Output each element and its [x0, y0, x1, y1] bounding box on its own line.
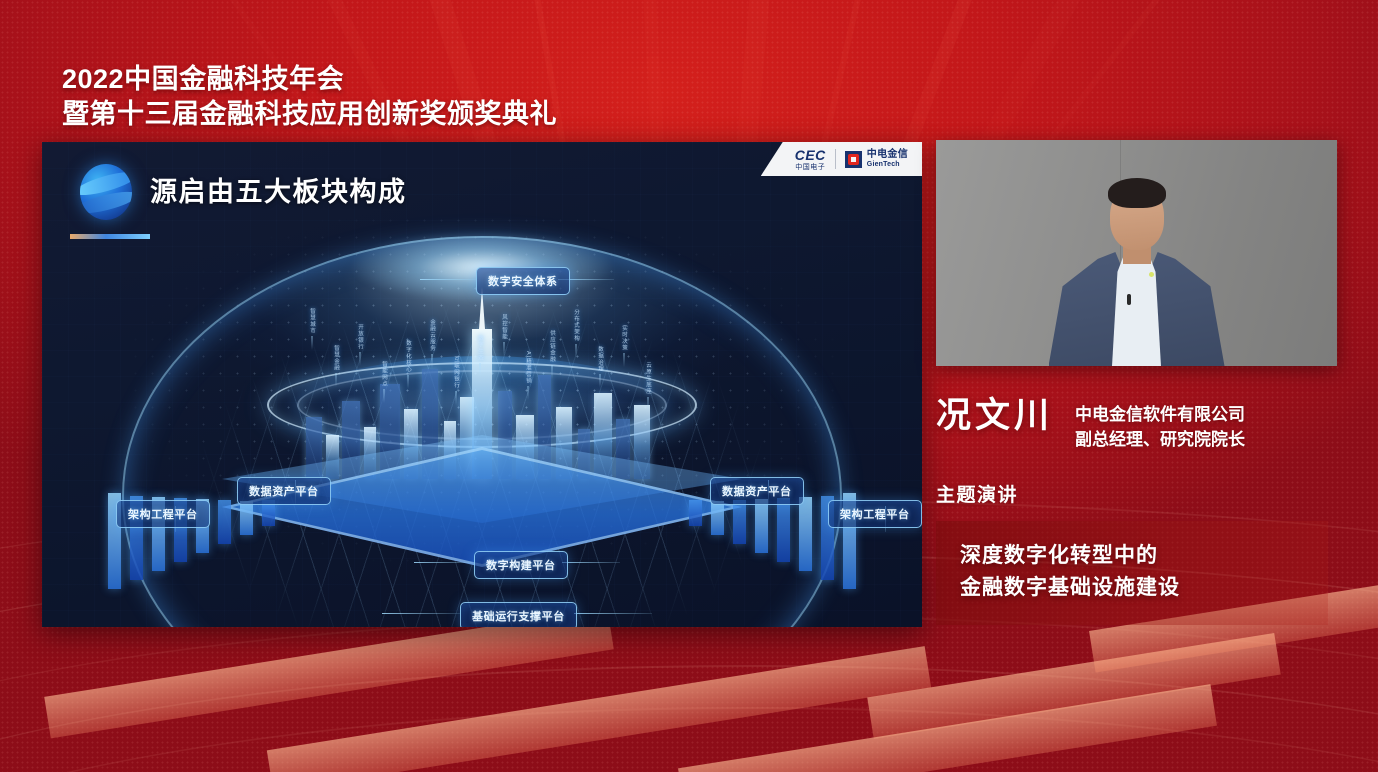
node-data-asset-left[interactable]: 数据资产平台: [237, 477, 331, 505]
city-label: 数字化核心: [404, 340, 412, 373]
gientech-en-name: GienTech: [867, 161, 908, 168]
event-title: 2022中国金融科技年会 暨第十三届金融科技应用创新奖颁奖典礼: [62, 27, 557, 167]
speaker-identity-row: 况文川 中电金信软件有限公司 副总经理、研究院院长: [936, 398, 1348, 452]
node-architecture-left[interactable]: 架构工程平台: [116, 500, 210, 528]
cec-abbr: CEC: [795, 148, 826, 162]
city-label: 数字生态: [476, 335, 484, 361]
speaker-organization: 中电金信软件有限公司 副总经理、研究院院长: [1075, 398, 1245, 452]
speech-topic-box: 深度数字化转型中的 金融数字基础设施建设: [936, 521, 1328, 625]
speaker-video-feed[interactable]: [936, 140, 1337, 366]
speech-topic-line1: 深度数字化转型中的: [960, 540, 1304, 572]
city-label: 互联网银行: [452, 356, 460, 389]
lead-runtime-right: [574, 613, 652, 614]
cec-cn-name: 中国电子: [795, 164, 825, 171]
presentation-slide[interactable]: 源启由五大板块构成 CEC 中国电子 中电金信 GienTech: [42, 142, 922, 627]
speaker-info-panel: 况文川 中电金信软件有限公司 副总经理、研究院院长 主题演讲 深度数字化转型中的…: [936, 398, 1348, 625]
speaker-name: 况文川: [936, 398, 1053, 435]
node-architecture-right[interactable]: 架构工程平台: [828, 500, 922, 528]
city-label: 金融云服务: [428, 319, 436, 352]
city-label: 开放银行: [356, 324, 364, 350]
gientech-logo: 中电金信 GienTech: [845, 150, 908, 168]
platform-bar: [799, 497, 812, 571]
city-label: 风控智能: [500, 314, 508, 340]
lead-runtime-left: [382, 613, 460, 614]
cec-logo: CEC 中国电子: [795, 148, 826, 171]
slide-title: 源启由五大板块构成: [150, 170, 407, 209]
platform-bar: [733, 500, 746, 544]
logo-divider: [835, 149, 836, 169]
platform-bar: [689, 500, 702, 526]
platform-bar: [755, 499, 768, 553]
speech-topic-line2: 金融数字基础设施建设: [960, 572, 1304, 604]
city-label: 实时决策: [620, 325, 628, 351]
node-data-asset-right[interactable]: 数据资产平台: [710, 477, 804, 505]
city-label: 智能网点: [380, 361, 388, 387]
city-label: 数据治理: [596, 346, 604, 372]
speaker-lapel-pin: [1149, 272, 1154, 277]
gientech-mark-icon: [845, 151, 862, 168]
node-runtime-support[interactable]: 基础运行支撑平台: [460, 602, 577, 627]
event-title-line2: 暨第十三届金融科技应用创新奖颁奖典礼: [62, 97, 557, 132]
lead-build-left: [414, 562, 472, 563]
gientech-wordmark: 中电金信 GienTech: [867, 150, 908, 168]
partner-logo-bar: CEC 中国电子 中电金信 GienTech: [761, 142, 922, 176]
platform-bar: [711, 501, 724, 535]
speaker-org-line1: 中电金信软件有限公司: [1075, 402, 1245, 427]
city-label: 智慧金融: [332, 345, 340, 371]
lead-build-right: [562, 562, 620, 563]
city-label: AI精准营销: [524, 351, 532, 384]
event-title-line1: 2022中国金融科技年会: [62, 64, 344, 94]
city-label: 云原生底座: [644, 362, 652, 395]
gientech-cn-name: 中电金信: [867, 150, 908, 161]
speaker-hair: [1108, 178, 1166, 208]
node-security[interactable]: 数字安全体系: [476, 267, 570, 295]
city-label: 供应链金融: [548, 330, 556, 363]
platform-bar: [240, 501, 253, 535]
speaker-lapel-mic-icon: [1127, 294, 1131, 305]
platform-bar: [218, 500, 231, 544]
node-digital-build[interactable]: 数字构建平台: [474, 551, 568, 579]
lead-security-left: [420, 279, 476, 280]
platform-bar: [777, 498, 790, 562]
city-label: 分布式架构: [572, 309, 580, 342]
speaker-org-line2: 副总经理、研究院院长: [1075, 427, 1245, 452]
speaker-figure: [1037, 176, 1237, 366]
city-label: 智慧城市: [308, 308, 316, 334]
architecture-diagram: 智慧城市智慧金融开放银行智能网点数字化核心金融云服务互联网银行数字生态风控智能A…: [42, 212, 922, 627]
session-kind-label: 主题演讲: [936, 480, 1348, 507]
